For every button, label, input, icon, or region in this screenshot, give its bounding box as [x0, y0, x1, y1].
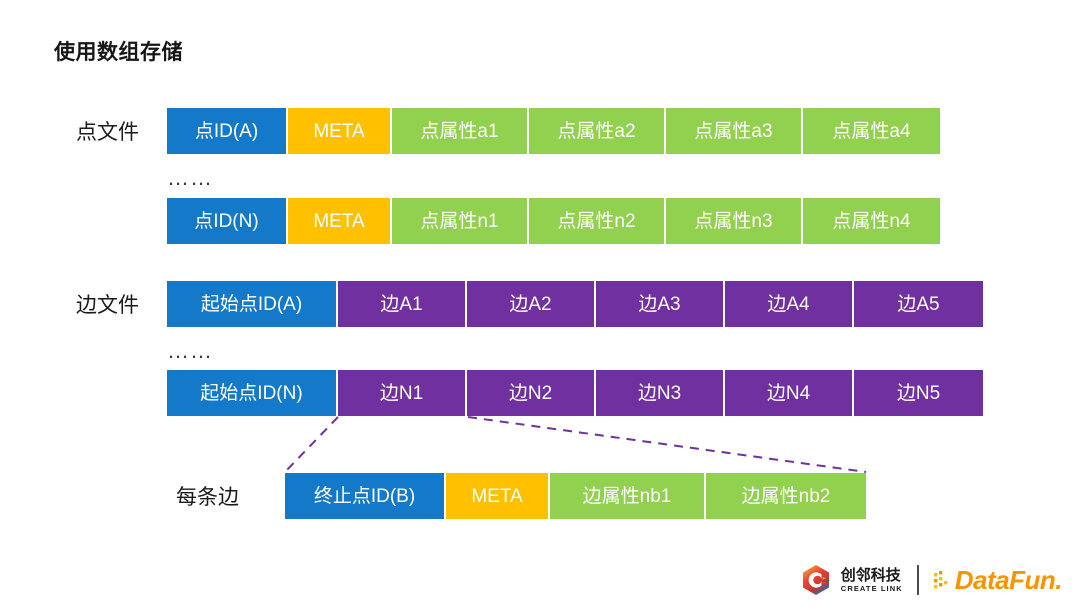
cell-point-attr-n4[interactable]: 点属性n4	[803, 198, 940, 244]
cell-edge-n4[interactable]: 边N4	[725, 370, 854, 416]
page-title: 使用数组存储	[54, 36, 183, 66]
connector-line-left	[285, 417, 338, 472]
cell-point-attr-a1[interactable]: 点属性a1	[392, 108, 529, 154]
create-link-cn-text: 创邻科技	[841, 568, 903, 583]
edge-file-ellipsis: ……	[167, 340, 213, 362]
cell-edge-n3[interactable]: 边N3	[596, 370, 725, 416]
cell-point-attr-n3[interactable]: 点属性n3	[666, 198, 803, 244]
cell-point-id-a[interactable]: 点ID(A)	[167, 108, 288, 154]
cell-point-attr-a2[interactable]: 点属性a2	[529, 108, 666, 154]
footer-logos: 创邻科技 CREATE LINK DataFun.	[800, 564, 1062, 596]
cell-point-attr-a3[interactable]: 点属性a3	[666, 108, 803, 154]
cell-point-attr-n2[interactable]: 点属性n2	[529, 198, 666, 244]
cell-edge-n1[interactable]: 边N1	[338, 370, 467, 416]
datafun-wordmark: DataFun.	[955, 567, 1062, 593]
connector-line-right	[468, 417, 866, 472]
point-file-ellipsis: ……	[167, 167, 213, 189]
cell-point-id-n[interactable]: 点ID(N)	[167, 198, 288, 244]
edge-file-label: 边文件	[76, 281, 139, 327]
cell-edge-a2[interactable]: 边A2	[467, 281, 596, 327]
datafun-dots-icon	[933, 568, 953, 592]
cell-start-id-n[interactable]: 起始点ID(N)	[167, 370, 338, 416]
cell-edge-a3[interactable]: 边A3	[596, 281, 725, 327]
create-link-logo: 创邻科技 CREATE LINK	[800, 564, 903, 596]
cell-end-id-b[interactable]: 终止点ID(B)	[285, 473, 446, 519]
point-file-row-a: 点ID(A) META 点属性a1 点属性a2 点属性a3 点属性a4	[167, 108, 940, 154]
cell-meta-a[interactable]: META	[288, 108, 392, 154]
edge-file-row-n: 起始点ID(N) 边N1 边N2 边N3 边N4 边N5	[167, 370, 983, 416]
cell-edge-attr-b2[interactable]: 边属性nb2	[706, 473, 866, 519]
cell-edge-attr-b1[interactable]: 边属性nb1	[550, 473, 706, 519]
edge-detail-label: 每条边	[176, 473, 239, 519]
cell-meta-n[interactable]: META	[288, 198, 392, 244]
cell-start-id-a[interactable]: 起始点ID(A)	[167, 281, 338, 327]
cell-edge-a4[interactable]: 边A4	[725, 281, 854, 327]
cell-edge-n2[interactable]: 边N2	[467, 370, 596, 416]
create-link-en-text: CREATE LINK	[841, 585, 903, 593]
datafun-logo: DataFun.	[933, 567, 1062, 593]
cell-point-attr-n1[interactable]: 点属性n1	[392, 198, 529, 244]
create-link-hexagon-icon	[800, 564, 834, 596]
create-link-wordmark: 创邻科技 CREATE LINK	[841, 568, 903, 593]
cell-edge-a1[interactable]: 边A1	[338, 281, 467, 327]
cell-edge-meta[interactable]: META	[446, 473, 550, 519]
point-file-label: 点文件	[76, 108, 139, 154]
footer-divider	[917, 565, 919, 595]
cell-edge-n5[interactable]: 边N5	[854, 370, 983, 416]
edge-detail-row: 终止点ID(B) META 边属性nb1 边属性nb2	[285, 473, 866, 519]
cell-point-attr-a4[interactable]: 点属性a4	[803, 108, 940, 154]
edge-file-row-a: 起始点ID(A) 边A1 边A2 边A3 边A4 边A5	[167, 281, 983, 327]
point-file-row-n: 点ID(N) META 点属性n1 点属性n2 点属性n3 点属性n4	[167, 198, 940, 244]
cell-edge-a5[interactable]: 边A5	[854, 281, 983, 327]
